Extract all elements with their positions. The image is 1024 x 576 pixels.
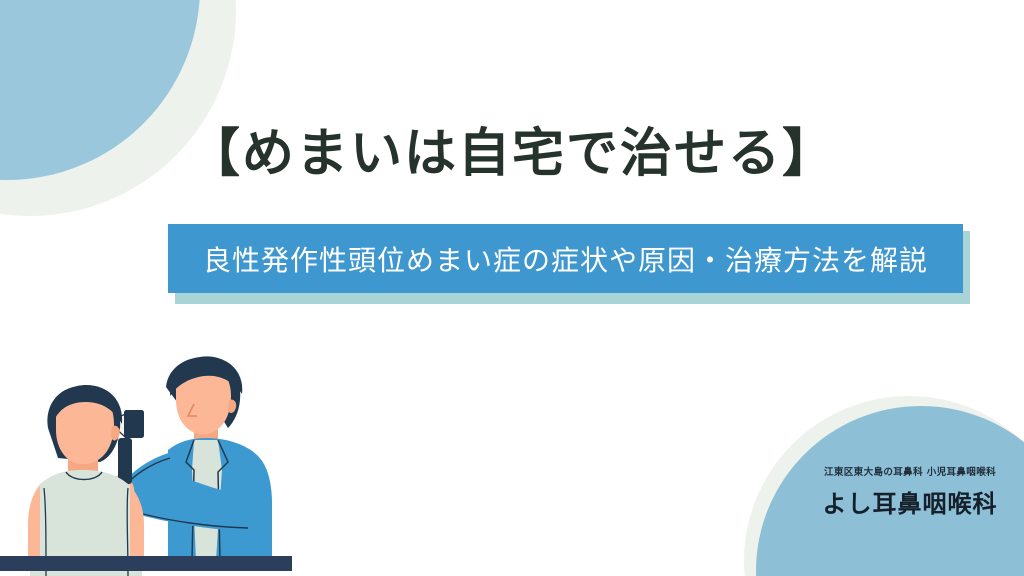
illustration-doctor-patient xyxy=(18,352,286,576)
subtitle-banner-fill: 良性発作性頭位めまい症の症状や原因・治療方法を解説 xyxy=(168,224,963,293)
subtitle-text: 良性発作性頭位めまい症の症状や原因・治療方法を解説 xyxy=(203,239,928,279)
patient-ear xyxy=(111,426,120,441)
otoscope-head xyxy=(124,410,144,438)
page-title: 【めまいは自宅で治せる】 xyxy=(0,111,1024,186)
otoscope-handle xyxy=(118,438,132,484)
clinic-logo-name: よし耳鼻咽喉科 xyxy=(796,484,1024,519)
slide-canvas: 【めまいは自宅で治せる】 良性発作性頭位めまい症の症状や原因・治療方法を解説 江… xyxy=(0,0,1024,576)
patient-arm-left xyxy=(28,486,40,562)
clinic-logo: 江東区東大島の耳鼻科 小児耳鼻咽喉科 よし耳鼻咽喉科 xyxy=(796,464,1024,519)
desk-bar xyxy=(0,556,292,571)
subtitle-banner: 良性発作性頭位めまい症の症状や原因・治療方法を解説 xyxy=(168,224,970,304)
clinic-logo-tagline: 江東区東大島の耳鼻科 小児耳鼻咽喉科 xyxy=(796,464,1024,478)
doctor-patient-svg xyxy=(18,352,286,576)
